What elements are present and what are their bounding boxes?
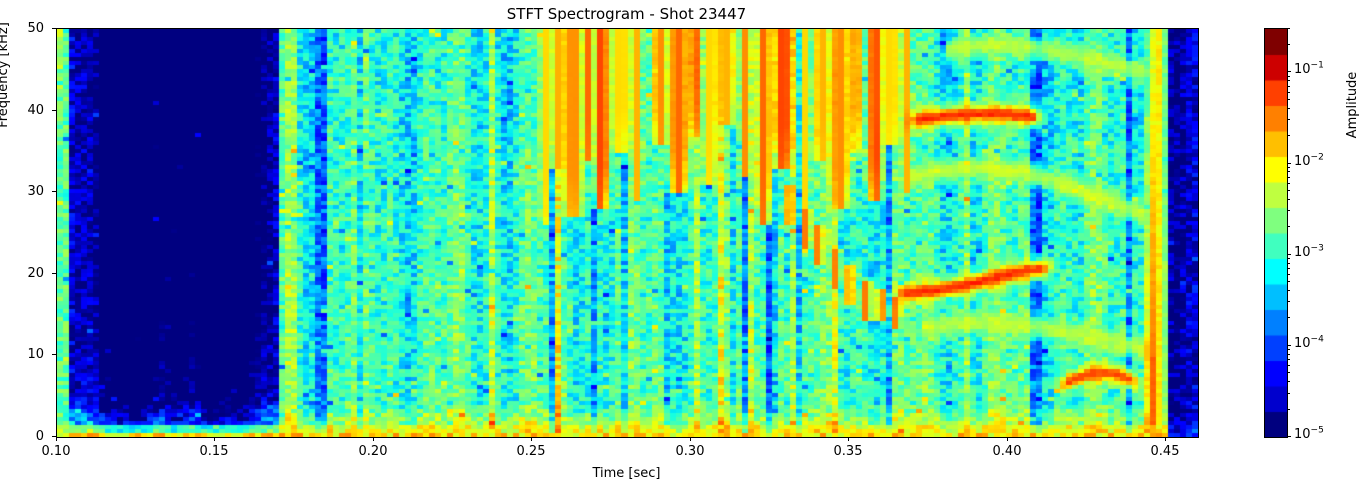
y-axis-tick-label: 30 [0,185,44,198]
colorbar-tick-label: 10−5 [1294,428,1324,441]
colorbar-tick-mark [1287,190,1290,191]
x-axis-tick-mark [1165,437,1166,441]
colorbar-tick-mark [1287,290,1290,291]
colorbar-tick-mark [1287,44,1290,45]
colorbar-tick-mark [1287,171,1290,172]
colorbar-tick-mark [1287,349,1290,350]
colorbar-tick-mark [1287,86,1290,87]
colorbar-tick-mark [1287,92,1290,93]
colorbar-tick-mark [1287,108,1290,109]
colorbar-tick-mark [1287,80,1290,81]
colorbar-label: Amplitude [1345,25,1359,185]
colorbar-tick-mark [1287,177,1290,178]
x-axis-tick-label: 0.40 [993,445,1022,458]
x-axis-tick-mark [531,437,532,441]
colorbar-tick-mark [1287,254,1291,255]
y-axis-tick-mark [52,28,56,29]
colorbar-tick-mark [1287,345,1291,346]
colorbar-tick-mark [1287,99,1290,100]
x-axis-tick-label: 0.20 [359,445,388,458]
y-axis-label: Frequency [kHz] [0,0,11,155]
colorbar-tick-mark [1287,135,1290,136]
y-axis-tick-label: 20 [0,267,44,280]
colorbar-tick-mark [1287,393,1290,394]
colorbar-tick-label: 10−3 [1294,246,1324,259]
y-axis-tick-mark [52,354,56,355]
spectrogram-plot-area[interactable] [56,28,1199,438]
colorbar-tick-mark [1287,167,1290,168]
colorbar-tick-mark [1287,226,1290,227]
colorbar-tick-mark [1287,268,1290,269]
x-axis-tick-label: 0.15 [200,445,229,458]
x-axis-tick-label: 0.10 [42,445,71,458]
x-axis-tick-mark [373,437,374,441]
x-axis-tick-label: 0.45 [1151,445,1180,458]
colorbar-tick-mark [1287,354,1290,355]
page-title: STFT Spectrogram - Shot 23447 [56,4,1197,24]
y-axis-tick-mark [52,436,56,437]
x-axis-tick-mark [690,437,691,441]
colorbar-tick-mark [1287,274,1290,275]
colorbar[interactable] [1264,28,1288,438]
x-axis-tick-mark [56,437,57,441]
x-axis-tick-label: 0.35 [834,445,863,458]
colorbar-gradient [1265,29,1287,437]
colorbar-tick-mark [1287,359,1290,360]
colorbar-tick-mark [1287,281,1290,282]
x-axis-tick-mark [848,437,849,441]
colorbar-tick-label: 10−2 [1294,155,1324,168]
x-axis-tick-label: 0.30 [676,445,705,458]
y-axis-tick-label: 10 [0,348,44,361]
colorbar-tick-mark [1287,163,1291,164]
x-axis-tick-mark [1007,437,1008,441]
colorbar-tick-label: 10−4 [1294,337,1324,350]
colorbar-tick-mark [1287,258,1290,259]
colorbar-tick-mark [1287,365,1290,366]
colorbar-tick-mark [1287,71,1291,72]
y-axis-tick-mark [52,273,56,274]
colorbar-tick-mark [1287,183,1290,184]
spectrogram-image [57,29,1198,437]
colorbar-tick-mark [1287,28,1290,29]
colorbar-tick-mark [1287,263,1290,264]
colorbar-tick-mark [1287,210,1290,211]
y-axis-tick-mark [52,191,56,192]
colorbar-tick-mark [1287,436,1291,437]
x-axis-tick-mark [214,437,215,441]
figure-canvas: STFT Spectrogram - Shot 23447 0102030405… [0,0,1359,490]
colorbar-tick-mark [1287,199,1290,200]
colorbar-tick-mark [1287,317,1290,318]
colorbar-tick-mark [1287,372,1290,373]
colorbar-tick-label: 10−1 [1294,63,1324,76]
y-axis-tick-mark [52,110,56,111]
colorbar-tick-mark [1287,409,1290,410]
y-axis-tick-label: 0 [0,430,44,443]
colorbar-tick-mark [1287,301,1290,302]
colorbar-tick-mark [1287,76,1290,77]
colorbar-tick-mark [1287,119,1290,120]
colorbar-tick-mark [1287,381,1290,382]
x-axis-label: Time [sec] [56,466,1197,481]
x-axis-tick-label: 0.25 [517,445,546,458]
